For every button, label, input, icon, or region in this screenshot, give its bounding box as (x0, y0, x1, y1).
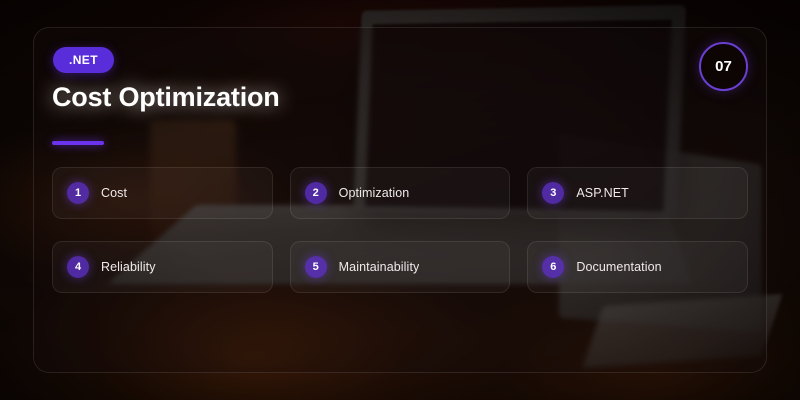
topic-number-badge: 4 (67, 256, 89, 278)
topic-label: Reliability (101, 260, 156, 274)
topic-number-badge: 2 (305, 182, 327, 204)
slide-stage: .NET Cost Optimization 07 1 Cost 2 Optim… (0, 0, 800, 400)
topic-label: Documentation (576, 260, 661, 274)
category-tag-badge: .NET (53, 47, 114, 73)
topic-label: ASP.NET (576, 186, 629, 200)
topic-card[interactable]: 1 Cost (52, 167, 273, 219)
topic-number-badge: 3 (542, 182, 564, 204)
topic-number-badge: 1 (67, 182, 89, 204)
topic-card[interactable]: 3 ASP.NET (527, 167, 748, 219)
topic-label: Optimization (339, 186, 410, 200)
topic-card[interactable]: 6 Documentation (527, 241, 748, 293)
title-accent-bar (52, 141, 104, 145)
slide-title: Cost Optimization (52, 82, 280, 113)
topic-label: Cost (101, 186, 127, 200)
topic-card[interactable]: 2 Optimization (290, 167, 511, 219)
topic-grid: 1 Cost 2 Optimization 3 ASP.NET 4 Reliab… (52, 167, 748, 293)
topic-label: Maintainability (339, 260, 420, 274)
topic-card[interactable]: 5 Maintainability (290, 241, 511, 293)
topic-number-badge: 6 (542, 256, 564, 278)
content-panel: .NET Cost Optimization 07 1 Cost 2 Optim… (33, 27, 767, 373)
topic-card[interactable]: 4 Reliability (52, 241, 273, 293)
step-number-badge: 07 (699, 42, 748, 91)
topic-number-badge: 5 (305, 256, 327, 278)
